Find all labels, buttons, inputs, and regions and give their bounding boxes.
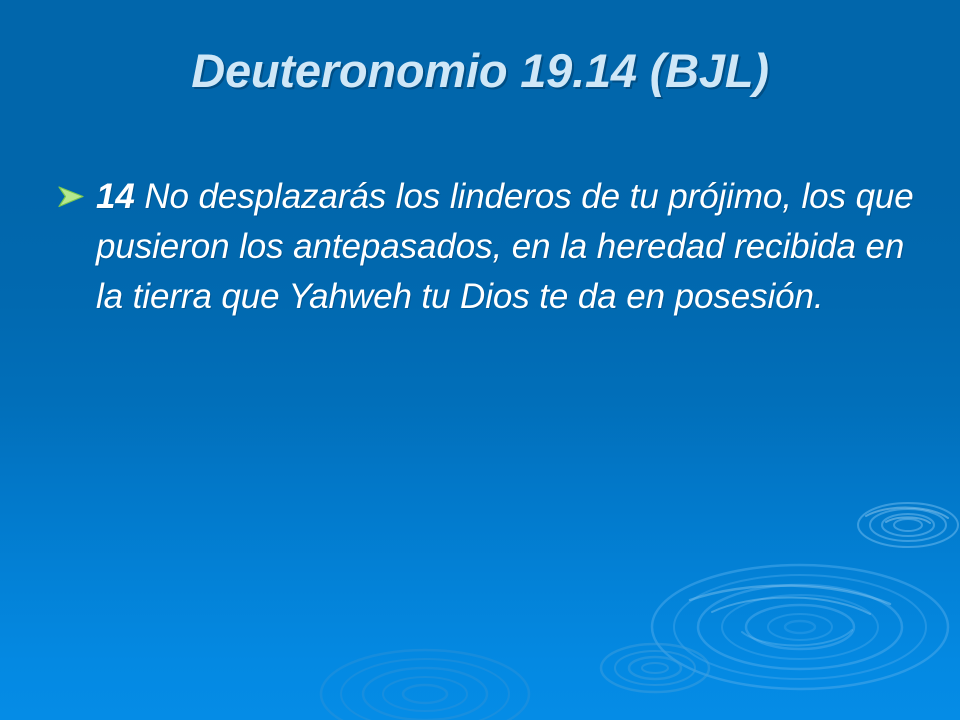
ripple-small-top-right [858, 503, 958, 547]
bullet-list-item: 14 No desplazarás los linderos de tu pró… [56, 172, 936, 322]
slide-title: Deuteronomio 19.14 (BJL) [60, 46, 900, 95]
slide-title-text: Deuteronomio 19.14 (BJL) [60, 46, 900, 95]
ripple-large-right-highlight [690, 586, 890, 646]
verse-paragraph: 14 No desplazarás los linderos de tu pró… [96, 172, 936, 322]
verse-number: 14 [96, 177, 135, 216]
ripple-small-bottom-left [601, 644, 709, 692]
ripple-large-right [652, 565, 948, 689]
arrow-bullet-icon [56, 172, 96, 210]
presentation-slide: Deuteronomio 19.14 (BJL) 14 No desplazar… [0, 0, 960, 720]
ripple-small-top-right-highlight [866, 508, 948, 523]
verse-text: No desplazarás los linderos de tu prójim… [96, 177, 914, 316]
slide-body: 14 No desplazarás los linderos de tu pró… [56, 172, 936, 322]
ripple-decoration-group [0, 0, 960, 720]
ripple-small-far-left [321, 650, 529, 720]
